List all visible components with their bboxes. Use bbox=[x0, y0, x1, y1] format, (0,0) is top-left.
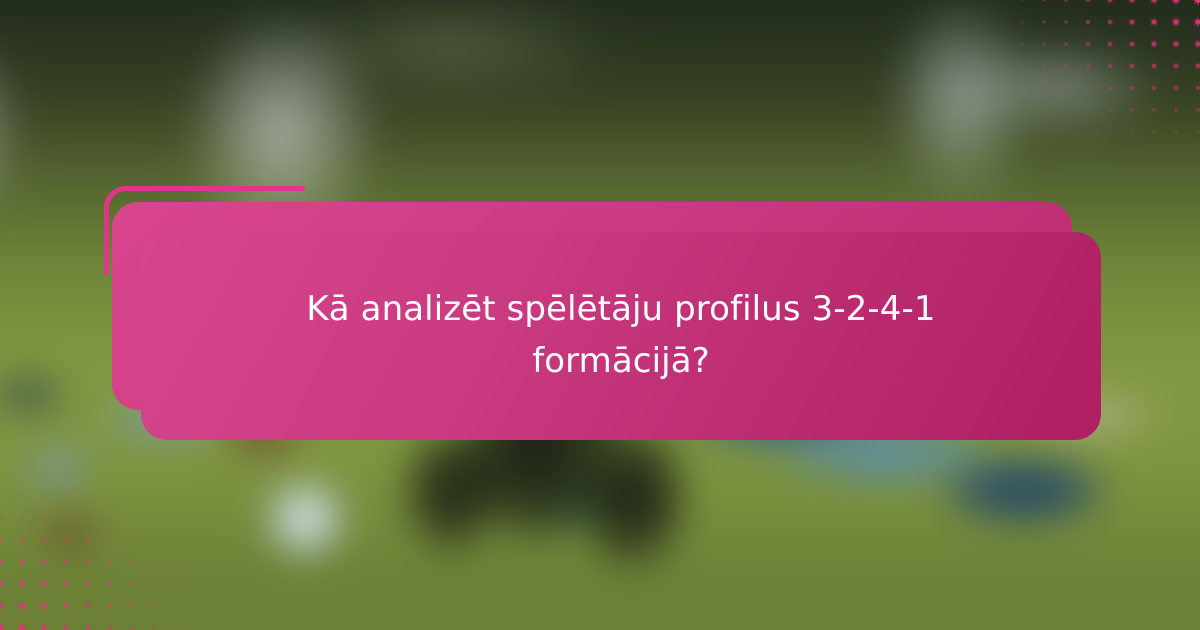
social-card-canvas: Kā analizēt spēlētāju profilus 3-2-4-1 f… bbox=[0, 0, 1200, 630]
card-front-layer: Kā analizēt spēlētāju profilus 3-2-4-1 f… bbox=[141, 232, 1101, 440]
page-title: Kā analizēt spēlētāju profilus 3-2-4-1 f… bbox=[281, 284, 961, 387]
